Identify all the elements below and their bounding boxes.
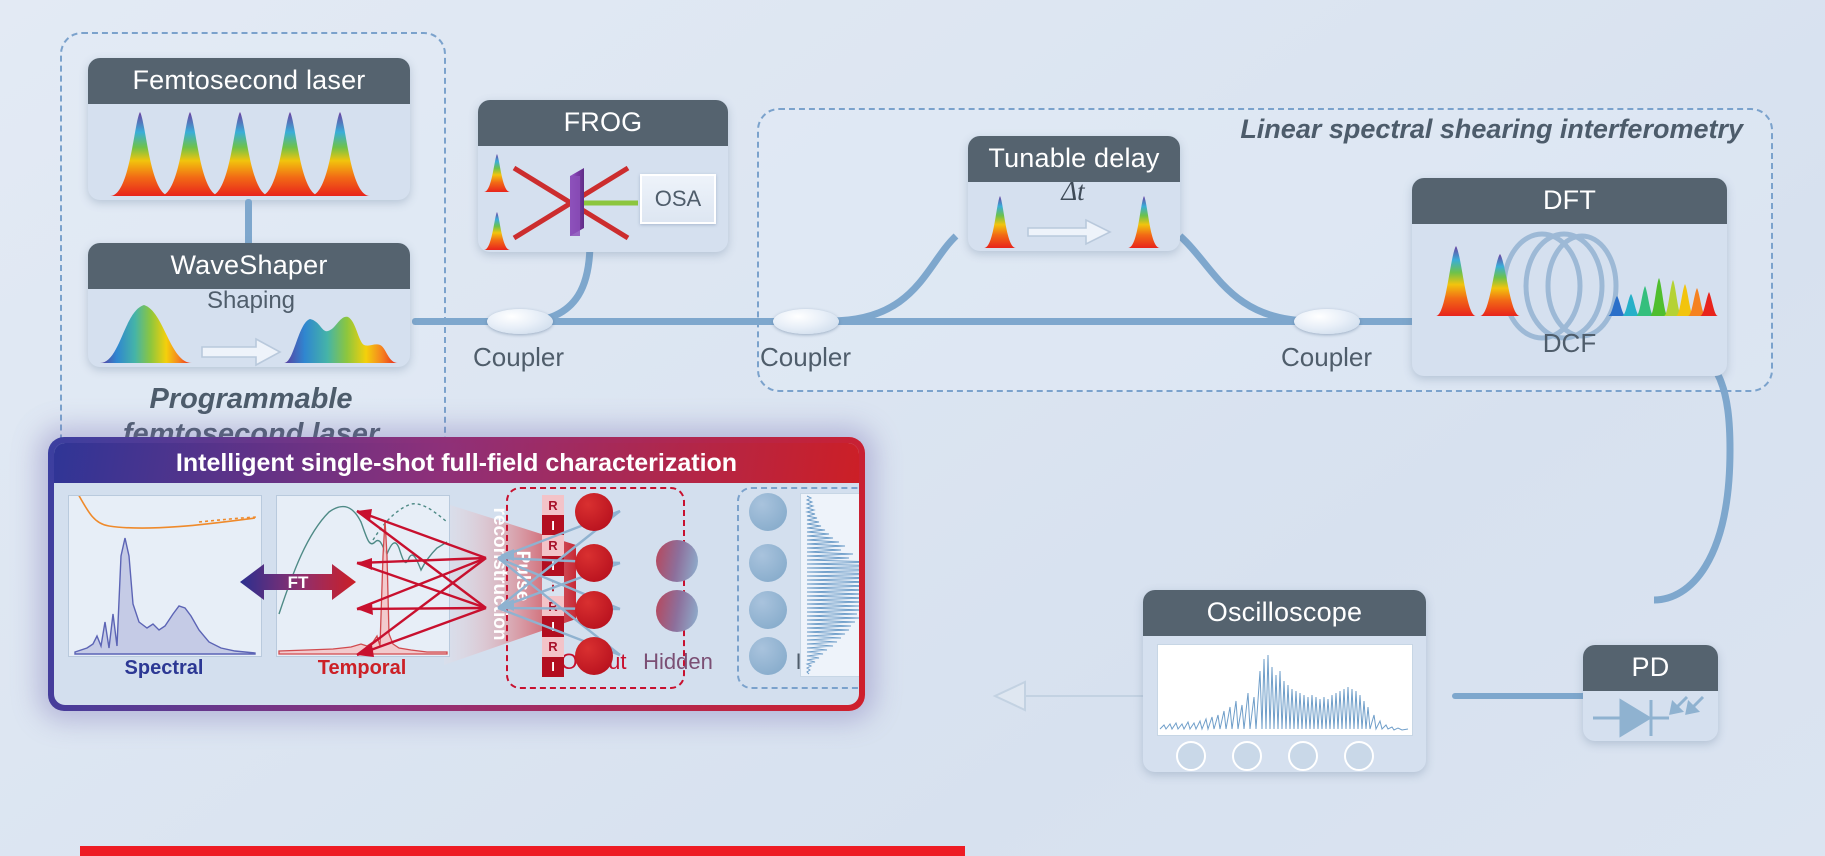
ml-characterization-panel[interactable]: Intelligent single-shot full-field chara…: [48, 437, 865, 711]
figure-canvas: Programmable femtosecond laser Linear sp…: [0, 0, 1825, 856]
nn-output-node: [575, 544, 613, 582]
nn-hidden-node: [656, 590, 698, 632]
ml-panel-title: Intelligent single-shot full-field chara…: [54, 443, 859, 483]
nn-hidden-label: Hidden: [632, 649, 724, 675]
plot-spectral-label: Spectral: [68, 657, 260, 680]
frog-detector-osa[interactable]: OSA: [640, 174, 716, 224]
group-programmable-label-line1: Programmable: [62, 382, 440, 417]
femtosecond-laser-pulse-train: [88, 104, 410, 200]
instrument-photodiode[interactable]: PD: [1583, 645, 1718, 741]
coupler-1-label: Coupler: [473, 342, 564, 373]
nn-input-node: [749, 544, 787, 582]
instrument-frog[interactable]: FROG: [478, 100, 728, 252]
frog-osa-label: OSA: [655, 186, 701, 212]
femtosecond-laser-title: Femtosecond laser: [88, 58, 410, 104]
frog-title: FROG: [478, 100, 728, 146]
nn-input-waveform: [800, 493, 859, 677]
instrument-femtosecond-laser[interactable]: Femtosecond laser: [88, 58, 410, 200]
ft-double-arrow: FT: [240, 561, 356, 603]
ri-cell-ellipsis: ⋮: [542, 576, 564, 596]
plot-spectral: [68, 495, 262, 657]
fiber-laser-to-waveshaper: [245, 199, 252, 246]
fiber-curve-tunable-delay: [830, 218, 990, 328]
oscilloscope-title: Oscilloscope: [1143, 590, 1426, 636]
nn-input-node: [749, 637, 787, 675]
nn-output-node: [575, 493, 613, 531]
plot-temporal-label: Temporal: [276, 657, 448, 680]
coupler-3-label: Coupler: [1281, 342, 1372, 373]
photodiode-symbol-icon: [1583, 691, 1718, 741]
waveshaper-title: WaveShaper: [88, 243, 410, 289]
ri-cell: R: [542, 535, 564, 555]
instrument-dft[interactable]: DFT: [1412, 178, 1727, 376]
ri-cell: I: [542, 616, 564, 636]
nn-input-node: [749, 591, 787, 629]
group-lssi-label: Linear spectral shearing interferometry: [757, 113, 1757, 146]
svg-text:FT: FT: [288, 573, 309, 592]
nn-output-node: [575, 591, 613, 629]
ri-cell: R: [542, 596, 564, 616]
photodiode-title: PD: [1583, 645, 1718, 691]
instrument-oscilloscope[interactable]: Oscilloscope: [1143, 590, 1426, 772]
ri-cell: I: [542, 515, 564, 535]
ri-cell: I: [542, 657, 564, 677]
coupler-3: [1294, 309, 1360, 334]
instrument-waveshaper[interactable]: WaveShaper Shaping: [88, 243, 410, 367]
ri-cell: R: [542, 495, 564, 515]
oscilloscope-knobs[interactable]: [1157, 740, 1411, 772]
coupler-1: [487, 309, 553, 334]
dft-fiber-label: DCF: [1412, 328, 1727, 359]
dft-title: DFT: [1412, 178, 1727, 224]
coupler-2: [773, 309, 839, 334]
fiber-pd-to-oscilloscope: [1452, 693, 1592, 699]
nn-hidden-node: [656, 540, 698, 582]
instrument-tunable-delay[interactable]: Tunable delay Δt: [968, 136, 1180, 251]
coupler-2-label: Coupler: [760, 342, 851, 373]
waveshaper-action-label: Shaping: [196, 287, 306, 315]
group-lssi-label-text: Linear spectral shearing interferometry: [1240, 114, 1743, 144]
nn-output-node: [575, 637, 613, 675]
ri-cell: I: [542, 556, 564, 576]
arrow-oscilloscope-to-ml: [995, 676, 1145, 716]
ri-cell: R: [542, 637, 564, 657]
nn-input-node: [749, 493, 787, 531]
oscilloscope-screen: [1157, 644, 1413, 736]
tunable-delay-symbol: Δt: [1030, 176, 1116, 207]
bottom-red-strip: [80, 846, 965, 856]
nn-ri-column: R I R I ⋮ R I R I: [542, 495, 564, 677]
